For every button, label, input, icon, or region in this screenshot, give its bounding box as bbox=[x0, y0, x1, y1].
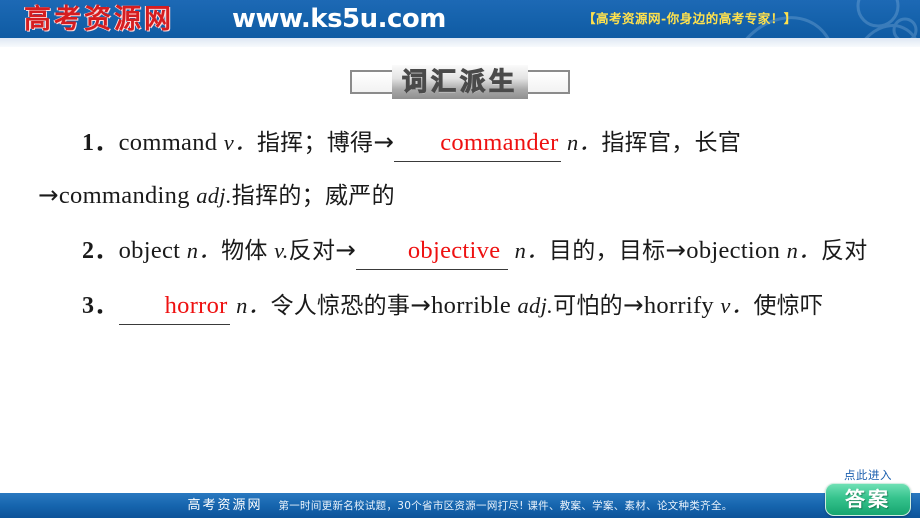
entry-3-derived-meaning-2: 使惊吓 bbox=[754, 293, 824, 319]
entry-2-derived-meaning: 反对 bbox=[821, 238, 868, 264]
entry-2-answer-blank[interactable]: objective bbox=[356, 234, 508, 270]
entry-1-answer-blank[interactable]: commander bbox=[394, 126, 560, 162]
entry-1-derived-meaning: 指挥的；威严的 bbox=[232, 183, 395, 209]
section-title-text: 词汇派生 bbox=[402, 67, 518, 97]
site-header: 高考资源网 www.ks5u.com 【高考资源网-你身边的高考专家！】 bbox=[0, 0, 920, 38]
entry-3-answer-meaning: 令人惊恐的事 bbox=[270, 293, 410, 319]
entry-3-arrow-1-icon: → bbox=[410, 290, 431, 319]
entry-1-derived-word: commanding bbox=[59, 182, 190, 209]
entry-2-answer-meaning: 目的，目标 bbox=[549, 238, 666, 264]
vocabulary-entry-3: 3．horror n．令人惊恐的事→horrible adj.可怕的→horri… bbox=[38, 279, 886, 332]
entry-2-number: 2． bbox=[82, 238, 119, 264]
entry-1-answer-pos: n． bbox=[567, 130, 601, 155]
entry-1-arrow-1-icon: → bbox=[373, 127, 394, 156]
entry-2-arrow-1-icon: → bbox=[335, 235, 356, 264]
entry-3-derived-pos-1: adj. bbox=[518, 293, 554, 318]
site-logo-cn: 高考资源网 bbox=[24, 2, 174, 36]
vocabulary-entry-2: 2．object n．物体 v.反对→objective n．目的，目标→obj… bbox=[38, 224, 886, 277]
footer-text: 第一时间更新名校试题，30个省市区资源一网打尽! 课件、教案、学案、素材、论文种… bbox=[278, 498, 732, 514]
site-footer: 高考资源网 第一时间更新名校试题，30个省市区资源一网打尽! 课件、教案、学案、… bbox=[0, 493, 920, 518]
entry-1-derived-pos: adj. bbox=[196, 183, 232, 208]
vocabulary-list: 1．command v．指挥；博得→commander n．指挥官，长官→com… bbox=[38, 116, 886, 334]
site-url[interactable]: www.ks5u.com bbox=[232, 3, 446, 36]
banner-bracket-right-icon bbox=[522, 70, 570, 94]
vocabulary-entry-1: 1．command v．指挥；博得→commander n．指挥官，长官→com… bbox=[38, 116, 886, 222]
entry-2-answer-pos: n． bbox=[515, 238, 549, 263]
entry-2-meaning: 物体 bbox=[221, 238, 268, 264]
entry-2-derived-word: objection bbox=[686, 237, 780, 264]
section-title-banner: 词汇派生 bbox=[0, 62, 920, 102]
header-divider bbox=[0, 38, 920, 47]
answer-reveal-group[interactable]: 点此进入 答案 bbox=[822, 468, 914, 516]
entry-1-word: command bbox=[119, 129, 218, 156]
entry-2-arrow-2-icon: → bbox=[665, 235, 686, 264]
banner-bracket-left-icon bbox=[350, 70, 398, 94]
entry-1-pos: v． bbox=[224, 130, 257, 155]
entry-3-arrow-2-icon: → bbox=[623, 290, 644, 319]
entry-2-word: object bbox=[119, 237, 181, 264]
entry-1-meaning: 指挥；博得 bbox=[257, 130, 374, 156]
entry-3-derived-meaning-1: 可怕的 bbox=[553, 293, 623, 319]
entry-1-arrow-2-icon: → bbox=[38, 180, 59, 209]
entry-2-meaning-2: 反对 bbox=[289, 238, 336, 264]
entry-2-pos: n． bbox=[187, 238, 221, 263]
entry-2-derived-pos: n． bbox=[787, 238, 821, 263]
entry-3-derived-pos-2: v． bbox=[720, 293, 753, 318]
answer-button[interactable]: 答案 bbox=[825, 483, 911, 516]
answer-hint-label: 点此进入 bbox=[822, 468, 914, 482]
entry-1-answer-meaning: 指挥官，长官 bbox=[601, 130, 741, 156]
entry-2-pos-2: v. bbox=[274, 238, 289, 263]
entry-3-answer-blank[interactable]: horror bbox=[119, 289, 230, 325]
footer-logo: 高考资源网 bbox=[187, 497, 262, 515]
entry-3-derived-word-2: horrify bbox=[644, 292, 714, 319]
entry-3-answer-pos: n． bbox=[236, 293, 270, 318]
entry-3-derived-word-1: horrible bbox=[431, 292, 511, 319]
site-tagline: 【高考资源网-你身边的高考专家！】 bbox=[583, 10, 797, 28]
entry-1-number: 1． bbox=[82, 130, 119, 156]
entry-3-number: 3． bbox=[82, 293, 119, 319]
section-title-plate: 词汇派生 bbox=[392, 65, 528, 99]
